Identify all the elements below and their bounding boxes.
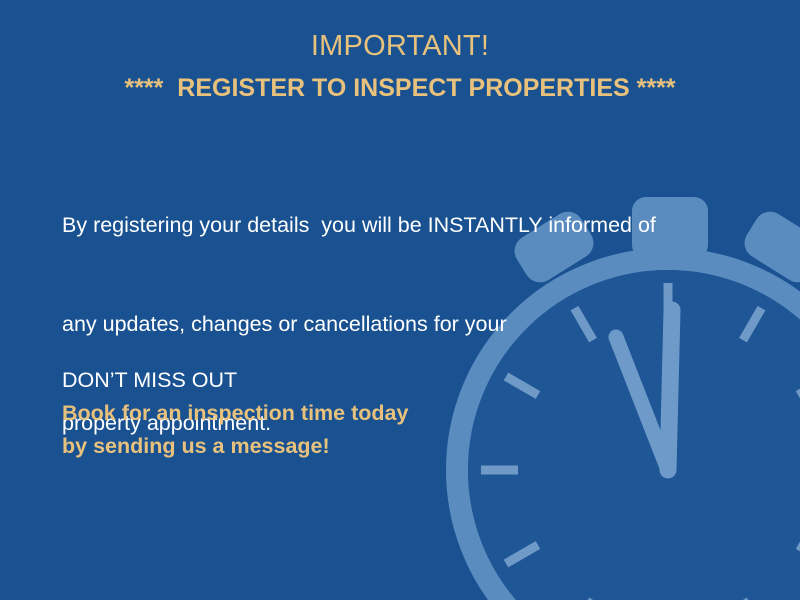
headline-subtitle: **** REGISTER TO INSPECT PROPERTIES **** bbox=[0, 70, 800, 106]
headline-block: IMPORTANT! **** REGISTER TO INSPECT PROP… bbox=[0, 28, 800, 106]
slide-content: IMPORTANT! **** REGISTER TO INSPECT PROP… bbox=[0, 0, 800, 600]
paragraph1-line2: any updates, changes or cancellations fo… bbox=[62, 308, 722, 341]
promotional-slide: IMPORTANT! **** REGISTER TO INSPECT PROP… bbox=[0, 0, 800, 600]
cta-book-inspection: Book for an inspection time today bbox=[62, 397, 622, 430]
paragraph1-line1: By registering your details you will be … bbox=[62, 209, 722, 242]
cta-dont-miss-out: DON’T MISS OUT bbox=[62, 364, 622, 397]
paragraph-no-registration-warning: If no one registers for an inspection ti… bbox=[62, 539, 722, 600]
call-to-action-block: DON’T MISS OUT Book for an inspection ti… bbox=[62, 364, 622, 463]
cta-send-message: by sending us a message! bbox=[62, 430, 622, 463]
page-title: IMPORTANT! bbox=[0, 28, 800, 64]
